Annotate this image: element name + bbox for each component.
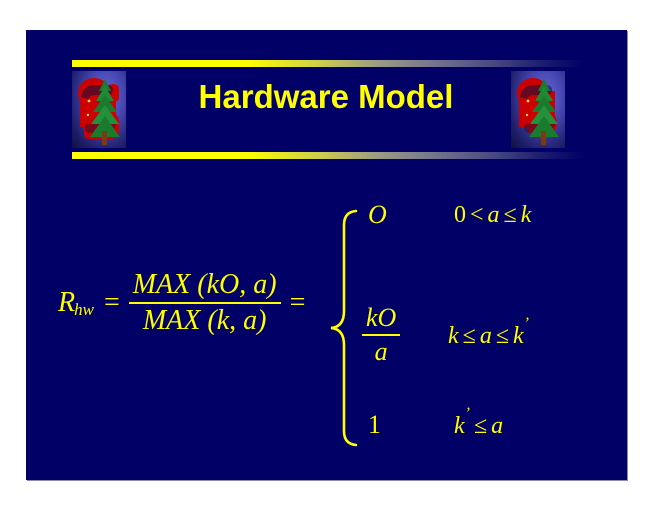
case-row: kO a k≤a≤k’ bbox=[362, 302, 627, 368]
stanford-tree-logo bbox=[511, 71, 565, 148]
stanford-tree-logo bbox=[72, 71, 126, 148]
case-condition: k’≤a bbox=[454, 411, 627, 440]
case-condition-left: k bbox=[448, 323, 459, 349]
case-condition-mid: a bbox=[491, 413, 503, 439]
case-value: 1 bbox=[362, 410, 454, 440]
case-row: O 0<a≤k bbox=[362, 200, 627, 230]
fraction-denominator: MAX (k, a) bbox=[139, 304, 271, 338]
main-fraction: MAX (kO, a) MAX (k, a) bbox=[129, 268, 281, 338]
case-condition-op1: ≤ bbox=[463, 323, 476, 349]
variable-R: R bbox=[58, 287, 75, 319]
case-condition-op2: ≤ bbox=[496, 323, 509, 349]
case-condition-mid: a bbox=[488, 202, 500, 228]
case-condition-right: k bbox=[513, 323, 524, 349]
case-row: 1 k’≤a bbox=[362, 410, 627, 440]
equation-left-hand-side: Rhw = MAX (kO, a) MAX (k, a) = bbox=[58, 268, 314, 338]
case-fraction-numerator: kO bbox=[362, 302, 400, 334]
case-condition-left: k bbox=[454, 413, 465, 439]
case-condition-mid: a bbox=[480, 323, 492, 349]
case-condition: 0<a≤k bbox=[454, 202, 627, 229]
case-condition-op1: < bbox=[470, 202, 484, 228]
equals-sign-1: = bbox=[104, 287, 120, 319]
case-fraction-denominator: a bbox=[371, 336, 392, 368]
variable-R-subscript: hw bbox=[74, 300, 94, 320]
title-rule-top bbox=[72, 60, 584, 67]
case-value: kO a bbox=[362, 302, 448, 368]
case-condition-left-prime: ’ bbox=[465, 405, 470, 422]
case-condition-right: k bbox=[521, 202, 532, 228]
case-condition-right-prime: ’ bbox=[524, 315, 529, 332]
cases-brace bbox=[326, 208, 360, 448]
case-condition-left: 0 bbox=[454, 202, 466, 228]
title-rule-bottom bbox=[72, 152, 584, 159]
case-value: O bbox=[362, 200, 454, 230]
case-condition: k≤a≤k’ bbox=[448, 321, 627, 350]
slide-title: Hardware Model bbox=[136, 77, 516, 117]
equals-sign-2: = bbox=[290, 287, 306, 319]
case-condition-op2: ≤ bbox=[504, 202, 517, 228]
title-banner: Hardware Model bbox=[26, 30, 627, 160]
fraction-numerator: MAX (kO, a) bbox=[129, 268, 281, 302]
case-condition-op1: ≤ bbox=[474, 413, 487, 439]
case-fraction: kO a bbox=[362, 302, 400, 368]
slide-canvas: Hardware Model Rhw = MAX (kO, a) MAX (k,… bbox=[26, 30, 627, 480]
equation-block: Rhw = MAX (kO, a) MAX (k, a) = O 0<a≤k bbox=[26, 160, 627, 480]
